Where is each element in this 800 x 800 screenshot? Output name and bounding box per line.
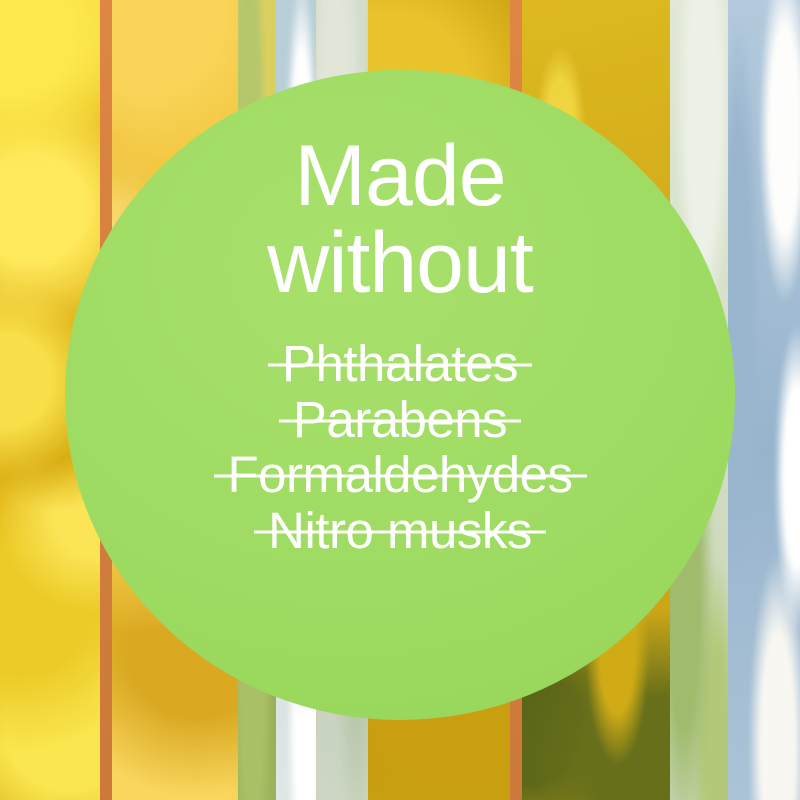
- excluded-ingredient-label: Phthalates: [268, 336, 532, 392]
- strip-sky-blossom: [728, 0, 800, 800]
- excluded-ingredient-item: Nitro musks: [214, 503, 587, 559]
- badge-headline-line-1: Made: [294, 134, 505, 219]
- excluded-ingredient-item: Formaldehydes: [214, 447, 587, 503]
- badge-headline-line-2: without: [267, 221, 533, 306]
- excluded-ingredient-label: Formaldehydes: [214, 447, 587, 503]
- excluded-ingredient-item: Parabens: [214, 392, 587, 448]
- excluded-ingredients-list: PhthalatesParabensFormaldehydesNitro mus…: [214, 336, 587, 558]
- photo-texture: [728, 0, 800, 800]
- badge-graphic: Made without PhthalatesParabensFormaldeh…: [0, 0, 800, 800]
- excluded-ingredient-label: Parabens: [279, 392, 521, 448]
- made-without-badge: Made without PhthalatesParabensFormaldeh…: [65, 70, 735, 720]
- excluded-ingredient-item: Phthalates: [214, 336, 587, 392]
- excluded-ingredient-label: Nitro musks: [254, 503, 546, 559]
